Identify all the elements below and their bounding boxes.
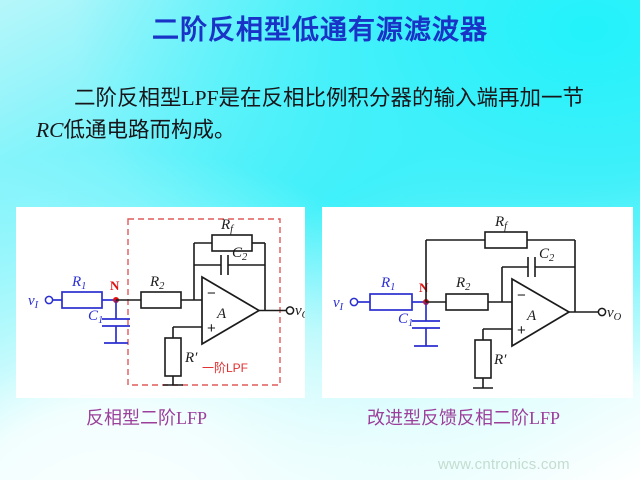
resistor-r2: [446, 294, 488, 310]
opamp-inverting-input-sign: −: [517, 287, 526, 304]
body-text-prefix: 二阶反相型LPF是在反相比例积分器的输入端再加一节: [74, 86, 584, 110]
node-n-label: N: [110, 278, 120, 293]
opamp-noninverting-input-sign: +: [207, 320, 216, 337]
figure-caption-right: 改进型反馈反相二阶LFP: [367, 404, 560, 430]
resistor-r1: [62, 292, 102, 308]
opamp-label: A: [526, 308, 537, 324]
page-title: 二阶反相型低通有源滤波器: [0, 16, 640, 46]
input-terminal-circle: [350, 298, 357, 305]
resistor-r1-label: R1: [71, 274, 86, 292]
resistor-r1: [370, 294, 412, 310]
output-terminal-circle: [598, 308, 605, 315]
input-label: vI: [28, 293, 39, 311]
capacitor-c2-label: C2: [539, 246, 555, 264]
body-paragraph: 二阶反相型LPF是在反相比例积分器的输入端再加一节RC低通电路而构成。: [36, 83, 606, 147]
input-label: vI: [333, 295, 344, 313]
first-order-lpf-annotation: 一阶LPF: [202, 361, 248, 375]
resistor-r1-label: R1: [380, 275, 395, 293]
capacitor-c1-label: C1: [88, 308, 103, 326]
body-text-italic: RC: [36, 118, 63, 142]
resistor-rprime: [475, 340, 491, 378]
opamp-label: A: [216, 306, 227, 322]
resistor-rprime: [165, 338, 181, 376]
opamp-inverting-input-sign: −: [207, 285, 216, 302]
resistor-rf-label: Rf: [494, 214, 509, 232]
resistor-r2-label: R2: [455, 275, 471, 293]
resistor-r2: [141, 292, 181, 308]
circuit-diagram-inverting-2nd-order-lpf: vI R1 N C1: [16, 207, 305, 398]
opamp-noninverting-input-sign: +: [517, 322, 526, 339]
output-terminal-circle: [286, 307, 293, 314]
resistor-rf: [485, 232, 527, 248]
figure-panel-right: vI R1 N C1 Rf: [322, 207, 633, 398]
slide-root: 二阶反相型低通有源滤波器 二阶反相型LPF是在反相比例积分器的输入端再加一节RC…: [0, 0, 640, 480]
watermark: www.cntronics.com: [438, 456, 570, 473]
resistor-r2-label: R2: [149, 274, 165, 292]
output-label: vO: [295, 303, 305, 321]
figure-panel-left: vI R1 N C1: [16, 207, 305, 398]
figure-caption-left: 反相型二阶LFP: [86, 404, 207, 430]
resistor-rprime-label: R′: [493, 352, 507, 368]
body-text-suffix: 低通电路而构成。: [63, 118, 235, 142]
capacitor-c1-label: C1: [398, 311, 413, 329]
output-label: vO: [607, 305, 622, 323]
node-n-label: N: [419, 280, 429, 295]
resistor-rprime-label: R′: [184, 350, 198, 366]
input-terminal-circle: [45, 296, 52, 303]
circuit-diagram-improved-feedback-inverting-2nd-order-lpf: vI R1 N C1 Rf: [322, 207, 633, 398]
